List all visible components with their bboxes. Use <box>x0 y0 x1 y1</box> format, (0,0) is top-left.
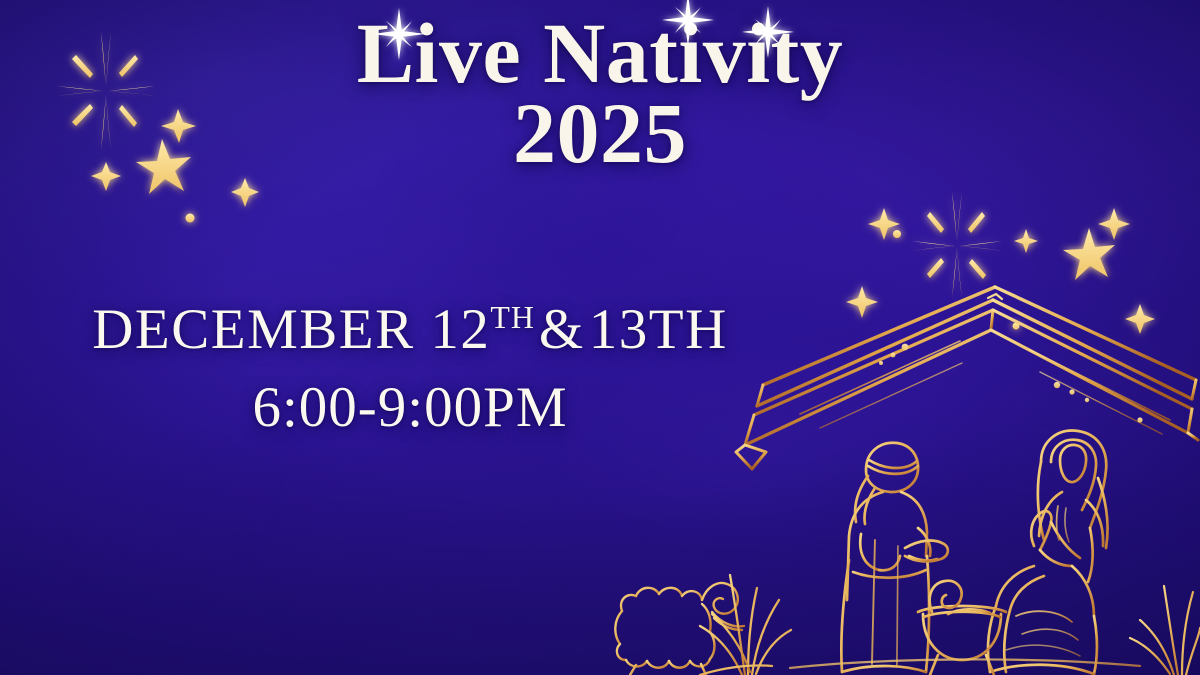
white-sparkle-3 <box>742 6 794 58</box>
white-sparkle-overlay <box>0 0 1200 675</box>
white-sparkle-2 <box>662 0 714 46</box>
white-sparkle-1 <box>373 8 425 60</box>
live-nativity-poster: Live Nativity 2025 DECEMBER 12TH&13TH 6:… <box>0 0 1200 675</box>
